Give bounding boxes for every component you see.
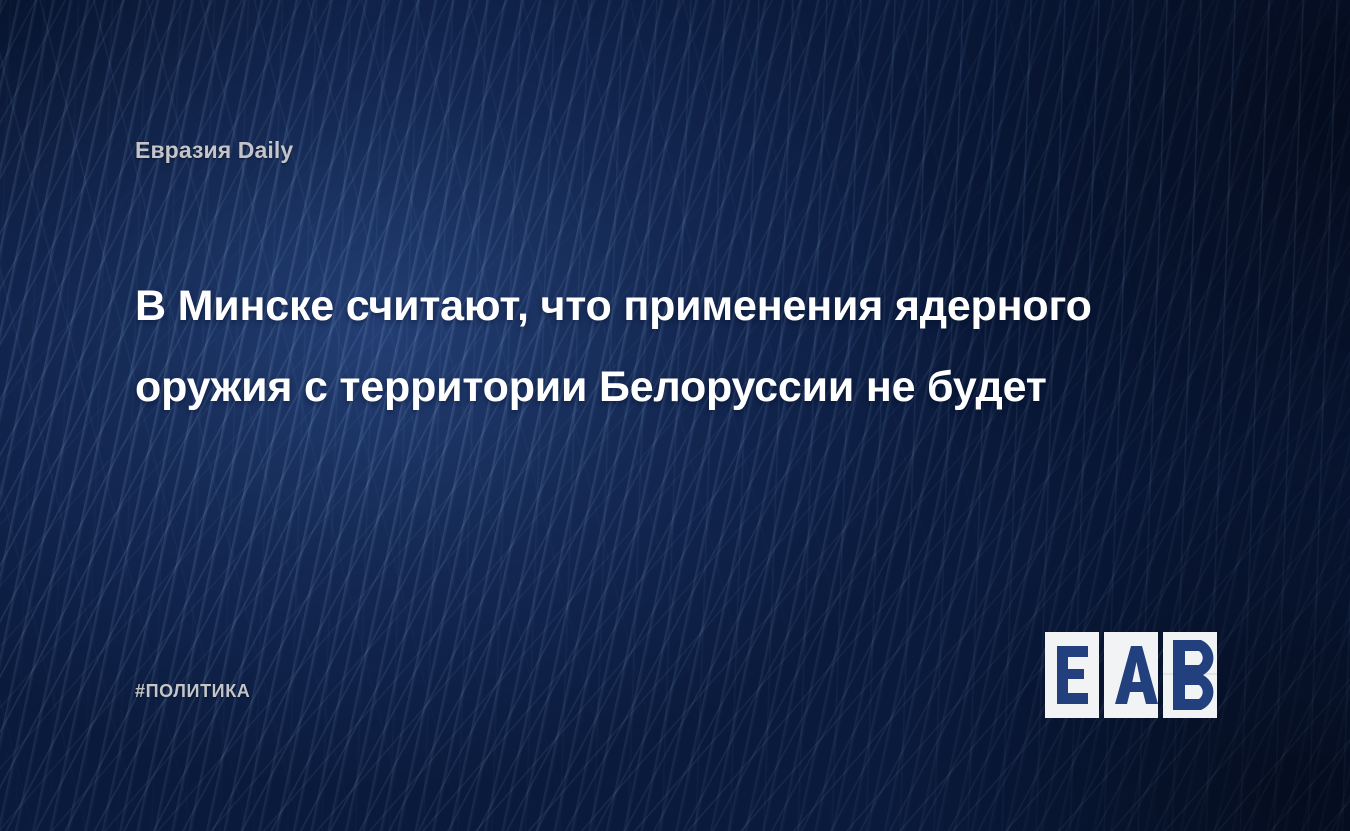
eadaily-logo xyxy=(1045,632,1225,718)
publication-name: Евразия Daily xyxy=(135,137,293,164)
article-headline: В Минске считают, что применения ядерног… xyxy=(135,266,1115,428)
eadaily-logo-mark xyxy=(1045,632,1225,718)
social-share-card: Евразия Daily В Минске считают, что прим… xyxy=(0,0,1350,831)
logo-letter-e xyxy=(1057,646,1088,704)
category-tag: #ПОЛИТИКА xyxy=(135,681,250,702)
card-content: Евразия Daily В Минске считают, что прим… xyxy=(0,0,1350,831)
